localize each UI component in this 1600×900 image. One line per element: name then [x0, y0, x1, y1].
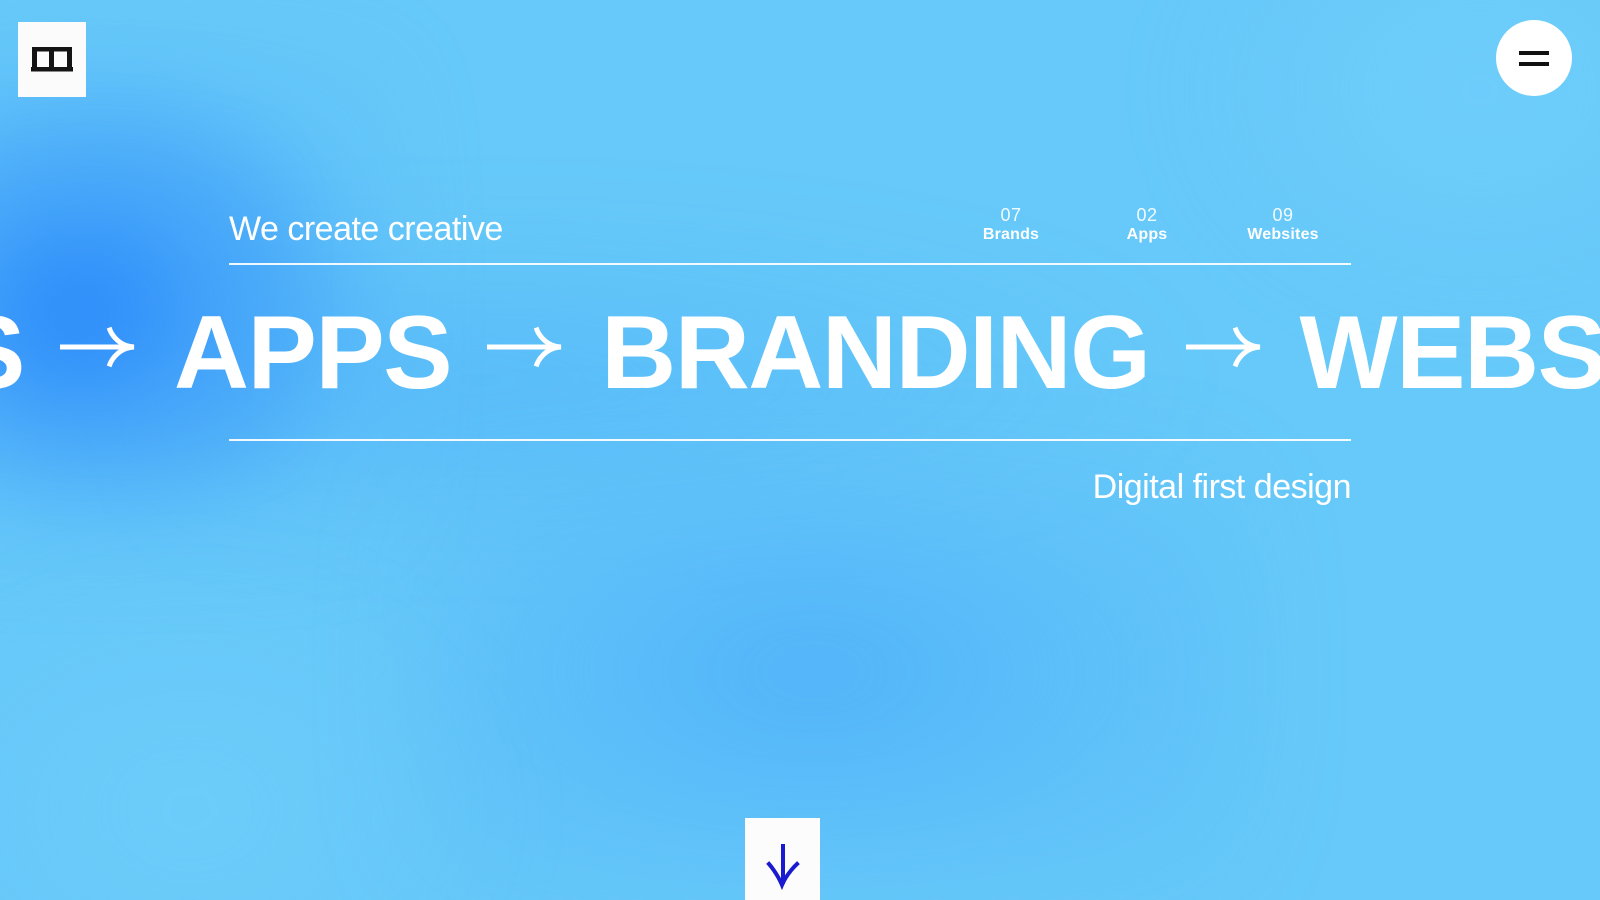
hero-tagline: We create creative [229, 212, 503, 246]
hero-caption: Digital first design [229, 465, 1351, 511]
arrow-down-icon [766, 838, 800, 890]
hamburger-menu-icon-bar-2 [1519, 62, 1549, 66]
arrow-right-icon [1186, 325, 1264, 369]
stat-brands-label: Brands [943, 226, 1079, 244]
services-marquee: S APPS BRANDING [0, 288, 1600, 418]
stat-apps-label: Apps [1079, 226, 1215, 244]
divider-bottom [229, 439, 1351, 441]
logo[interactable] [18, 22, 86, 97]
monogram-m-icon [31, 47, 73, 73]
marquee-word-2: BRANDING [601, 301, 1149, 405]
hero-top-row: We create creative 07 Brands 02 Apps 09 … [229, 190, 1351, 246]
stat-websites-number: 09 [1215, 205, 1351, 226]
stat-brands-number: 07 [943, 205, 1079, 226]
marquee-word-0: S [0, 301, 24, 405]
hero-section: We create creative 07 Brands 02 Apps 09 … [0, 0, 1600, 900]
stat-apps-number: 02 [1079, 205, 1215, 226]
scroll-down-button[interactable] [745, 818, 820, 900]
stat-websites: 09 Websites [1215, 205, 1351, 244]
stat-brands: 07 Brands [943, 205, 1079, 244]
marquee-word-3: WEBSITES [1300, 301, 1600, 405]
hamburger-menu-icon-bar-1 [1519, 51, 1549, 55]
marquee-word-1: APPS [174, 301, 451, 405]
stat-websites-label: Websites [1215, 226, 1351, 244]
hamburger-menu-button[interactable] [1496, 20, 1572, 96]
divider-top [229, 263, 1351, 265]
arrow-right-icon [487, 325, 565, 369]
hero-stats: 07 Brands 02 Apps 09 Websites [943, 205, 1351, 246]
stat-apps: 02 Apps [1079, 205, 1215, 244]
hero-page: We create creative 07 Brands 02 Apps 09 … [0, 0, 1600, 900]
arrow-right-icon [60, 325, 138, 369]
services-marquee-track: S APPS BRANDING [0, 301, 1600, 405]
